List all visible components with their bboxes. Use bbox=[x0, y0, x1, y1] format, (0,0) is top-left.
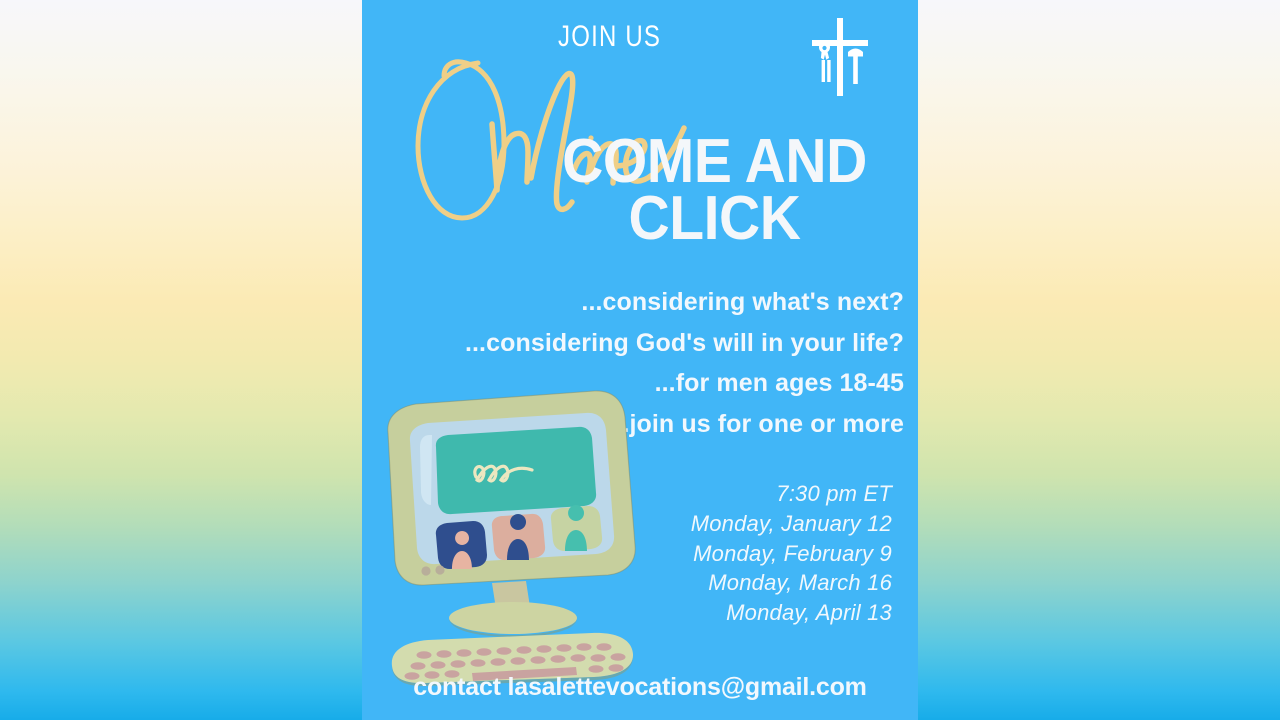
page-title: COME AND CLICK bbox=[537, 133, 891, 247]
video-tile-1 bbox=[436, 521, 487, 569]
screenshot-stage: JOIN US Online COME AND bbox=[0, 0, 1280, 720]
video-tile-2 bbox=[492, 514, 545, 560]
event-poster: JOIN US Online COME AND bbox=[362, 0, 918, 720]
video-tile-3 bbox=[551, 505, 602, 551]
headline-line-2: CLICK bbox=[537, 190, 891, 247]
desktop-computer-illustration bbox=[380, 385, 652, 685]
question-line-2: ...considering God's will in your life? bbox=[382, 323, 904, 364]
question-line-1: ...considering what's next? bbox=[382, 282, 904, 323]
contact-email: contact lasalettevocations@gmail.com bbox=[362, 673, 918, 702]
